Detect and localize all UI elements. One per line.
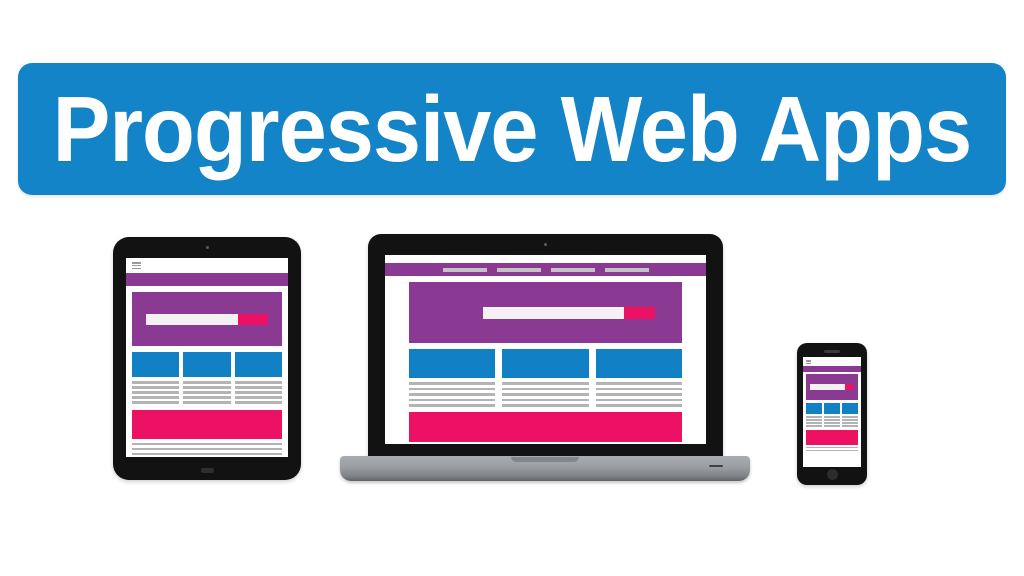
text-column — [596, 382, 682, 407]
tablet-home-button[interactable] — [201, 468, 214, 473]
search-input[interactable] — [146, 314, 238, 325]
tablet-footer-lines — [132, 443, 282, 456]
text-line — [183, 396, 230, 399]
text-line — [183, 381, 230, 384]
text-line — [824, 419, 840, 421]
text-line — [132, 386, 179, 389]
phone-text-columns — [806, 416, 858, 427]
search-button[interactable] — [624, 307, 655, 319]
text-line — [824, 422, 840, 424]
laptop-site-header — [385, 255, 706, 263]
text-line — [502, 382, 588, 385]
hamburger-line — [806, 363, 811, 364]
text-column — [132, 381, 179, 404]
text-line — [409, 382, 495, 385]
text-line — [132, 381, 179, 384]
laptop-base-mark — [709, 465, 723, 467]
text-column — [235, 381, 282, 404]
text-line — [824, 425, 840, 427]
text-line — [409, 388, 495, 391]
laptop-text-columns — [409, 382, 682, 407]
phone-screen — [803, 357, 861, 467]
text-line — [842, 425, 858, 427]
text-column — [842, 416, 858, 427]
text-line — [235, 381, 282, 384]
tablet-text-columns — [132, 381, 282, 404]
text-line — [183, 386, 230, 389]
text-line — [502, 404, 588, 407]
text-line — [409, 399, 495, 402]
content-card[interactable] — [806, 403, 822, 414]
text-line — [596, 404, 682, 407]
text-line — [235, 386, 282, 389]
text-line — [842, 419, 858, 421]
text-line — [596, 382, 682, 385]
text-line — [806, 422, 822, 424]
laptop-lid — [368, 234, 723, 459]
phone-footer-lines — [806, 447, 858, 452]
text-line — [132, 448, 282, 451]
text-line — [806, 450, 858, 452]
search-button[interactable] — [845, 384, 854, 390]
phone-wireframe-page — [803, 357, 861, 467]
text-line — [806, 419, 822, 421]
tablet-device — [113, 237, 301, 480]
tablet-site-header — [126, 258, 288, 273]
nav-item[interactable] — [605, 268, 649, 272]
text-column — [806, 416, 822, 427]
phone-earpiece-icon — [824, 350, 840, 353]
tablet-site-nav[interactable] — [126, 273, 288, 286]
laptop-base-notch — [511, 457, 579, 462]
laptop-site-body — [385, 276, 706, 444]
phone-site-header — [803, 357, 861, 366]
text-line — [132, 391, 179, 394]
hamburger-line — [132, 265, 141, 267]
tablet-search-row — [146, 314, 268, 325]
tablet-camera-icon — [206, 246, 209, 249]
content-card[interactable] — [824, 403, 840, 414]
hamburger-line — [132, 262, 141, 264]
tablet-hero-section — [132, 292, 282, 346]
text-line — [235, 401, 282, 404]
hamburger-line — [132, 268, 141, 270]
text-line — [806, 425, 822, 427]
tablet-site-body — [126, 286, 288, 457]
content-card[interactable] — [132, 352, 179, 377]
text-column — [824, 416, 840, 427]
search-input[interactable] — [810, 384, 845, 390]
text-line — [842, 416, 858, 418]
laptop-base — [340, 456, 750, 481]
phone-device — [797, 343, 867, 485]
laptop-card-row — [409, 349, 682, 378]
promo-banner[interactable] — [132, 410, 282, 439]
content-card[interactable] — [235, 352, 282, 377]
text-line — [409, 404, 495, 407]
promo-banner[interactable] — [806, 430, 858, 445]
content-card[interactable] — [183, 352, 230, 377]
page-title: Progressive Web Apps — [53, 83, 972, 176]
text-line — [183, 391, 230, 394]
text-line — [183, 401, 230, 404]
content-card[interactable] — [842, 403, 858, 414]
title-banner: Progressive Web Apps — [18, 63, 1006, 195]
phone-home-button[interactable] — [827, 469, 838, 480]
content-card[interactable] — [502, 349, 588, 378]
tablet-wireframe-page — [126, 258, 288, 457]
text-line — [132, 443, 282, 446]
text-line — [502, 388, 588, 391]
phone-card-row — [806, 403, 858, 414]
laptop-wireframe-page — [385, 255, 706, 444]
text-line — [824, 416, 840, 418]
tablet-screen — [126, 258, 288, 457]
content-card[interactable] — [409, 349, 495, 378]
text-line — [842, 422, 858, 424]
text-column — [502, 382, 588, 407]
text-line — [596, 393, 682, 396]
laptop-device — [340, 234, 750, 486]
search-input[interactable] — [483, 307, 624, 319]
nav-item[interactable] — [497, 268, 541, 272]
content-card[interactable] — [596, 349, 682, 378]
hamburger-menu-icon[interactable] — [132, 262, 141, 269]
text-line — [132, 453, 282, 456]
text-line — [502, 399, 588, 402]
phone-hero-section — [806, 374, 858, 400]
text-line — [132, 396, 179, 399]
text-column — [183, 381, 230, 404]
laptop-screen — [385, 255, 706, 444]
text-line — [409, 393, 495, 396]
text-line — [235, 396, 282, 399]
text-line — [502, 393, 588, 396]
nav-item[interactable] — [443, 268, 487, 272]
text-line — [596, 399, 682, 402]
phone-search-row — [810, 384, 854, 390]
text-line — [806, 416, 822, 418]
phone-site-body — [803, 372, 861, 467]
laptop-hero-section — [409, 282, 682, 343]
tablet-card-row — [132, 352, 282, 377]
text-column — [409, 382, 495, 407]
text-line — [806, 447, 858, 449]
laptop-camera-icon — [544, 243, 547, 246]
nav-item[interactable] — [551, 268, 595, 272]
laptop-search-row — [483, 307, 655, 319]
text-line — [235, 391, 282, 394]
hamburger-menu-icon[interactable] — [806, 360, 811, 364]
text-line — [596, 388, 682, 391]
text-line — [132, 401, 179, 404]
search-button[interactable] — [238, 314, 268, 325]
laptop-site-nav — [385, 263, 706, 276]
promo-banner[interactable] — [409, 412, 682, 442]
